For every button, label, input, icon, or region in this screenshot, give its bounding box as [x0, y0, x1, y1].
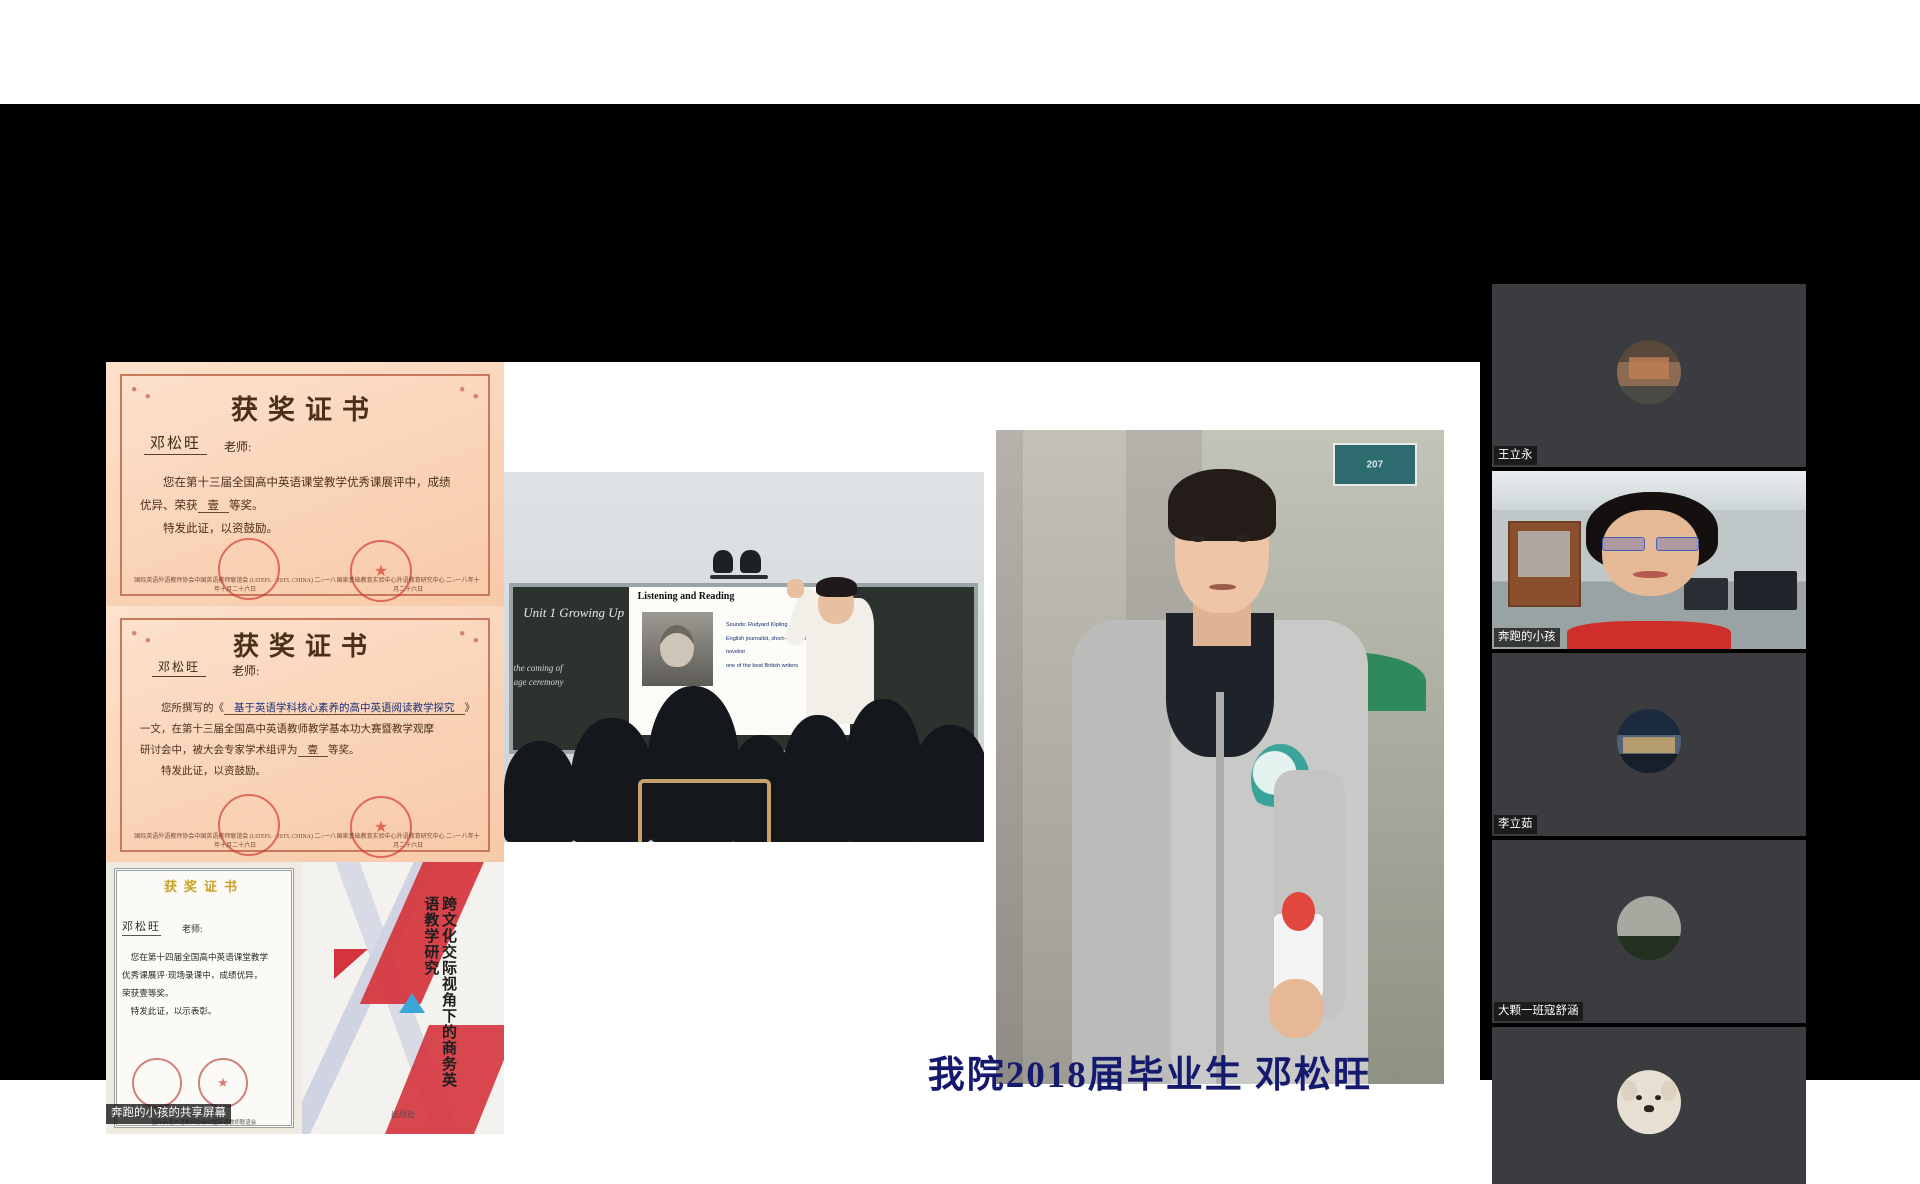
- star-icon: ★: [217, 1075, 229, 1091]
- video-feed: [1492, 471, 1806, 649]
- certificate-1: 获奖证书 邓松旺 老师: 您在第十三届全国高中英语课堂教学优秀课展评中，成绩 优…: [106, 362, 504, 606]
- book-publisher: 出版社: [302, 1109, 504, 1120]
- wooden-cabinet: [1508, 521, 1581, 607]
- certificate-2-paper-title: 基于英语学科核心素养的高中英语阅读教学探究: [224, 703, 465, 715]
- certificate-1-issuer-left: 国际英语外语教师协会中国英语教师联谊会 (IATEFL · TEFL CHINA…: [134, 577, 336, 596]
- certificate-3-recipient: 邓松旺: [122, 918, 161, 936]
- participant-strip[interactable]: 王立永 奔跑的小孩 李立茹: [1492, 284, 1806, 1184]
- monitor-icon: [1684, 578, 1728, 610]
- certificate-2-line2: 一文，在第十三届全国高中英语教师教学基本功大赛暨教学观摩: [140, 724, 434, 735]
- certificate-3-line3a: 荣获: [122, 988, 139, 998]
- certificate-2-body: 您所撰写的《基于英语学科核心素养的高中英语阅读教学探究》 一文，在第十三届全国高…: [140, 698, 476, 782]
- participant-tile-0[interactable]: 王立永: [1492, 284, 1806, 467]
- speaker-face: [1602, 510, 1699, 595]
- certificate-1-recipient: 邓松旺: [144, 432, 207, 455]
- eyeglasses-icon: [1602, 537, 1699, 549]
- certificate-3-seal-right: ★: [198, 1058, 248, 1108]
- certificate-3-line3b: 等奖。: [148, 988, 174, 998]
- participant-tile-2[interactable]: 李立茹: [1492, 653, 1806, 836]
- certificate-1-award: 壹: [198, 500, 230, 513]
- shared-screen-content[interactable]: 获奖证书 邓松旺 老师: 您在第十三届全国高中英语课堂教学优秀课展评中，成绩 优…: [106, 362, 1480, 1134]
- certificate-1-title: 获奖证书: [106, 388, 504, 427]
- certificate-1-line3: 特发此证，以资鼓励。: [163, 523, 278, 535]
- classroom-photo: Unit 1 Growing Up the coming of age cere…: [504, 472, 984, 842]
- participant-name-3: 大颗一班寇舒涵: [1494, 1002, 1583, 1021]
- certificate-2-line4: 特发此证，以资鼓励。: [161, 766, 266, 777]
- participant-tile-1[interactable]: 奔跑的小孩: [1492, 471, 1806, 649]
- certificate-1-issuer-right: 国家基础教育实验中心外语教育研究中心 二○一八年十月二十六日: [336, 577, 480, 596]
- participant-name-2: 李立茹: [1494, 815, 1537, 834]
- building-sign-text: 207: [1366, 459, 1383, 470]
- certificate-3-line4: 特发此证，以示表彰。: [131, 1006, 217, 1016]
- participant-tile-3[interactable]: 大颗一班寇舒涵: [1492, 840, 1806, 1023]
- camera-icon: [710, 550, 768, 580]
- certificate-3-award: 壹: [139, 988, 148, 998]
- street-avatar-icon: [1617, 709, 1681, 773]
- monitor-icon: [1734, 571, 1797, 610]
- certificate-2-line3b: 等奖。: [328, 745, 360, 756]
- certificate-3-line1: 您在第十四届全国高中英语课堂教学: [131, 952, 269, 962]
- certificate-1-recipient-suffix: 老师:: [224, 438, 251, 455]
- graduate-jacket-shadow: [1072, 620, 1171, 1084]
- certificate-2-issuer-right: 国家基础教育实验中心外语教育研究中心 二○一八年十月二十六日: [336, 833, 480, 852]
- meeting-window: 获奖证书 邓松旺 老师: 您在第十三届全国高中英语课堂教学优秀课展评中，成绩 优…: [0, 0, 1920, 1080]
- participant-tile-4[interactable]: [1492, 1027, 1806, 1184]
- building-sign: 207: [1333, 443, 1418, 486]
- graduate-mouth: [1209, 584, 1236, 591]
- night-avatar-icon: [1617, 896, 1681, 960]
- graduate-hand: [1269, 979, 1323, 1038]
- certificate-1-line2b: 等奖。: [229, 500, 264, 512]
- certificate-1-line2a: 优异、荣获: [140, 500, 198, 512]
- teacher-head: [818, 583, 854, 624]
- certificate-2-award: 壹: [298, 745, 329, 757]
- dog-avatar-icon: [1617, 1070, 1681, 1134]
- certificate-3-seal-left: [132, 1058, 182, 1108]
- certificate-3-line2: 优秀课展评·现场录课中，成绩优异，: [122, 970, 262, 980]
- certificate-3-body: 您在第十四届全国高中英语课堂教学 优秀课展评·现场录课中，成绩优异， 荣获壹等奖…: [122, 948, 288, 1020]
- certificate-2-line1a: 您所撰写的《: [161, 703, 224, 714]
- certificate-3-recipient-suffix: 老师:: [182, 922, 203, 935]
- certificate-2-footer: 国际英语外语教师协会中国英语教师联谊会 (IATEFL · TEFL CHINA…: [134, 833, 480, 852]
- teacher-hand: [787, 579, 804, 598]
- certificate-2: 获奖证书 邓松旺 老师: 您所撰写的《基于英语学科核心素养的高中英语阅读教学探究…: [106, 606, 504, 862]
- certificate-2-issuer-left: 国际英语外语教师协会中国英语教师联谊会 (IATEFL · TEFL CHINA…: [134, 833, 336, 852]
- blackboard-unit-text: Unit 1 Growing Up: [523, 605, 624, 621]
- speaker-mouth: [1633, 571, 1668, 578]
- certificate-3: 获奖证书 邓松旺 老师: 您在第十四届全国高中英语课堂教学 优秀课展评·现场录课…: [106, 862, 302, 1134]
- certificate-3-title: 获奖证书: [106, 876, 302, 895]
- student-desk: [638, 779, 771, 842]
- slide-title: Listening and Reading: [638, 591, 735, 602]
- certificate-1-body: 您在第十三届全国高中英语课堂教学优秀课展评中，成绩 优异、荣获壹等奖。 特发此证…: [140, 472, 476, 541]
- book-title: 跨文化交际视角下的商务英语教学研究: [336, 896, 456, 1096]
- book-cover: 跨文化交际视角下的商务英语教学研究 出版社: [302, 862, 504, 1134]
- campus-avatar-icon: [1617, 340, 1681, 404]
- participant-name-0: 王立永: [1494, 446, 1537, 465]
- certificate-2-line3a: 研讨会中，被大会专家学术组评为: [140, 745, 298, 756]
- certificate-1-footer: 国际英语外语教师协会中国英语教师联谊会 (IATEFL · TEFL CHINA…: [134, 577, 480, 596]
- certificate-1-line1: 您在第十三届全国高中英语课堂教学优秀课展评中，成绩: [163, 477, 451, 489]
- certificate-2-recipient-suffix: 老师:: [232, 662, 259, 679]
- graduate-photo: 207: [996, 430, 1444, 1084]
- speaker-shirt: [1567, 621, 1730, 649]
- certificate-2-line1b: 》: [465, 703, 476, 714]
- jacket-zipper: [1216, 692, 1225, 1084]
- screen-share-label: 奔跑的小孩的共享屏幕: [106, 1104, 231, 1124]
- kipling-portrait: [642, 612, 713, 686]
- certificate-2-recipient: 邓松旺: [152, 658, 206, 677]
- certificate-column: 获奖证书 邓松旺 老师: 您在第十三届全国高中英语课堂教学优秀课展评中，成绩 优…: [106, 362, 504, 1134]
- graduate-hair: [1168, 469, 1276, 541]
- slide-caption-title: 我院2018届毕业生 邓松旺: [812, 1044, 1372, 1098]
- participant-name-1: 奔跑的小孩: [1494, 628, 1560, 647]
- video-stage: 获奖证书 邓松旺 老师: 您在第十三届全国高中英语课堂教学优秀课展评中，成绩 优…: [0, 104, 1920, 1080]
